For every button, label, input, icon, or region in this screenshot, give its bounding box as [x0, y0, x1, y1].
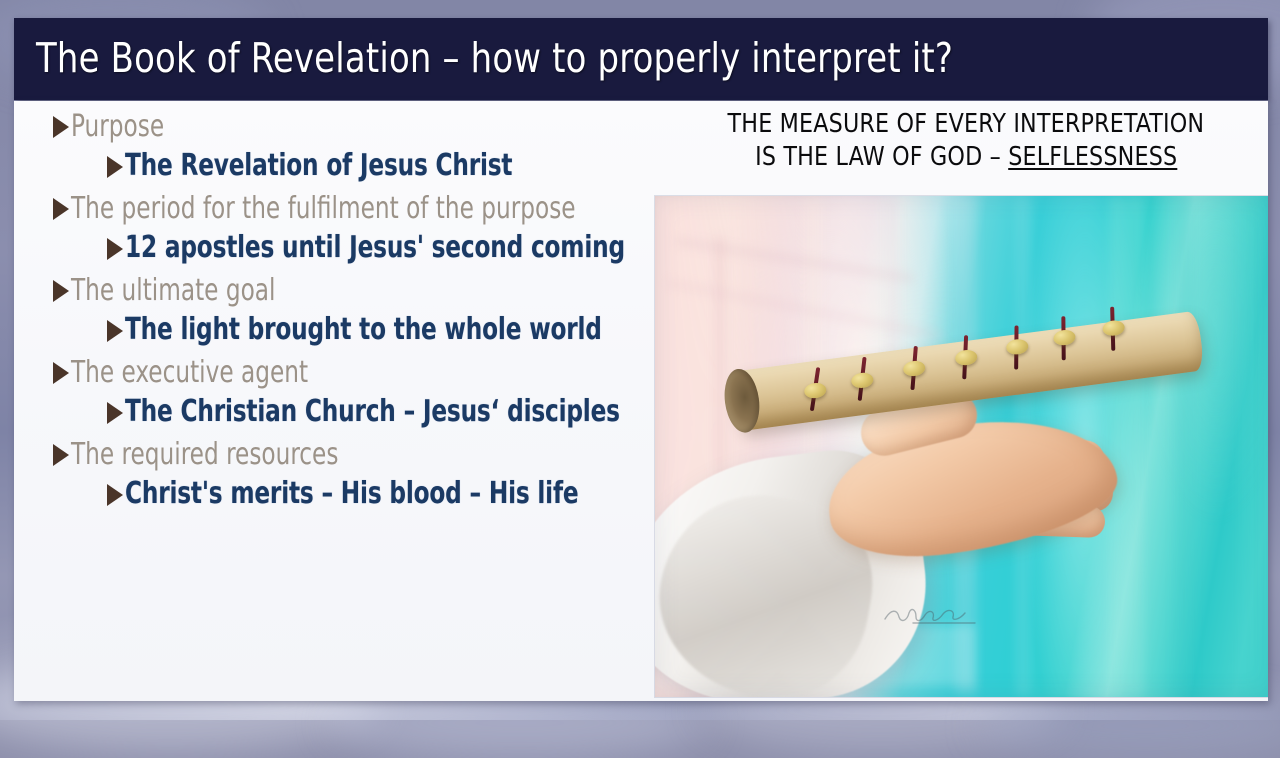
measure-heading-line1: THE MEASURE OF EVERY INTERPRETATION	[728, 108, 1205, 141]
measure-heading-line2-prefix: IS THE LAW OF GOD –	[755, 142, 1008, 172]
outline-sub-row[interactable]: Christ's merits – His blood – His life	[38, 473, 638, 515]
outline-sub-row[interactable]: The light brought to the whole world	[38, 309, 638, 351]
outline-heading-row[interactable]: The executive agent	[38, 353, 638, 393]
outline-heading-row[interactable]: Purpose	[38, 107, 638, 147]
outline-sub-row[interactable]: 12 apostles until Jesus' second coming	[38, 227, 638, 269]
outline-sub-label: The Christian Church – Jesus‘ disciples	[125, 391, 620, 433]
outline-heading-label: The executive agent	[71, 353, 308, 393]
measure-heading: THE MEASURE OF EVERY INTERPRETATION IS T…	[655, 108, 1268, 174]
background-cloud	[980, 694, 1280, 758]
outline-list: Purpose The Revelation of Jesus Christ T…	[38, 105, 638, 515]
triangle-right-icon	[53, 362, 69, 384]
paint-streak	[1110, 196, 1144, 696]
paint-streak	[1240, 196, 1264, 696]
triangle-right-icon	[53, 280, 69, 302]
slide-content-panel: Purpose The Revelation of Jesus Christ T…	[14, 101, 1268, 701]
triangle-right-icon	[107, 484, 123, 506]
outline-sub-row[interactable]: The Christian Church – Jesus‘ disciples	[38, 391, 638, 433]
outline-heading-label: The ultimate goal	[71, 271, 275, 311]
triangle-right-icon	[107, 402, 123, 424]
outline-heading-label: Purpose	[71, 107, 164, 147]
hand-holding-sealed-scroll-illustration	[655, 196, 1268, 697]
outline-sub-row[interactable]: The Revelation of Jesus Christ	[38, 145, 638, 187]
outline-heading-label: The period for the fulfilment of the pur…	[71, 189, 576, 229]
paint-streak	[1175, 196, 1193, 696]
measure-heading-line2: IS THE LAW OF GOD – SELFLESSNESS	[755, 141, 1177, 174]
outline-heading-row[interactable]: The required resources	[38, 435, 638, 475]
outline-sub-label: The Revelation of Jesus Christ	[125, 145, 512, 187]
outline-sub-label: 12 apostles until Jesus' second coming	[125, 227, 625, 269]
triangle-right-icon	[107, 320, 123, 342]
triangle-right-icon	[107, 238, 123, 260]
slide: The Book of Revelation – how to properly…	[0, 0, 1280, 720]
slide-title-bar: The Book of Revelation – how to properly…	[14, 18, 1268, 100]
illustration-canvas	[655, 196, 1268, 697]
measure-heading-emphasis: SELFLESSNESS	[1008, 142, 1177, 172]
outline-heading-label: The required resources	[71, 435, 338, 475]
outline-heading-row[interactable]: The ultimate goal	[38, 271, 638, 311]
outline-sub-label: The light brought to the whole world	[125, 309, 602, 351]
triangle-right-icon	[53, 116, 69, 138]
page-title: The Book of Revelation – how to properly…	[36, 34, 953, 82]
outline-heading-row[interactable]: The period for the fulfilment of the pur…	[38, 189, 638, 229]
outline-sub-label: Christ's merits – His blood – His life	[125, 473, 578, 515]
triangle-right-icon	[107, 156, 123, 178]
triangle-right-icon	[53, 198, 69, 220]
artist-signature	[883, 605, 979, 625]
triangle-right-icon	[53, 444, 69, 466]
